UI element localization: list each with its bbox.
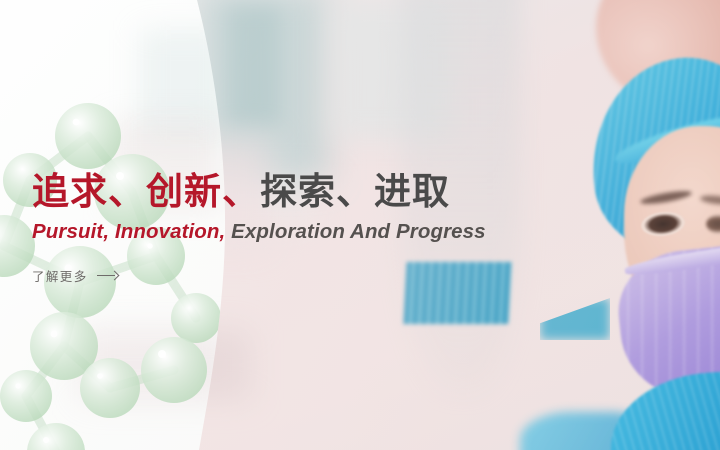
headline-segment-red: 追求、创新、: [32, 171, 260, 212]
subheadline-segment-gray: Exploration And Progress: [225, 220, 485, 243]
arrow-right-icon: [97, 271, 119, 280]
page-title: 追求、创新、探索、进取: [32, 172, 652, 212]
learn-more-label: 了解更多: [32, 266, 88, 285]
banner-content: 追求、创新、探索、进取 Pursuit, Innovation, Explora…: [32, 172, 652, 286]
subheadline-segment-red: Pursuit, Innovation,: [32, 220, 225, 243]
hero-banner: 追求、创新、探索、进取 Pursuit, Innovation, Explora…: [0, 0, 720, 450]
learn-more-link[interactable]: 了解更多: [32, 266, 119, 285]
headline-segment-gray: 探索、进取: [260, 171, 450, 212]
page-subtitle: Pursuit, Innovation, Exploration And Pro…: [32, 220, 652, 244]
